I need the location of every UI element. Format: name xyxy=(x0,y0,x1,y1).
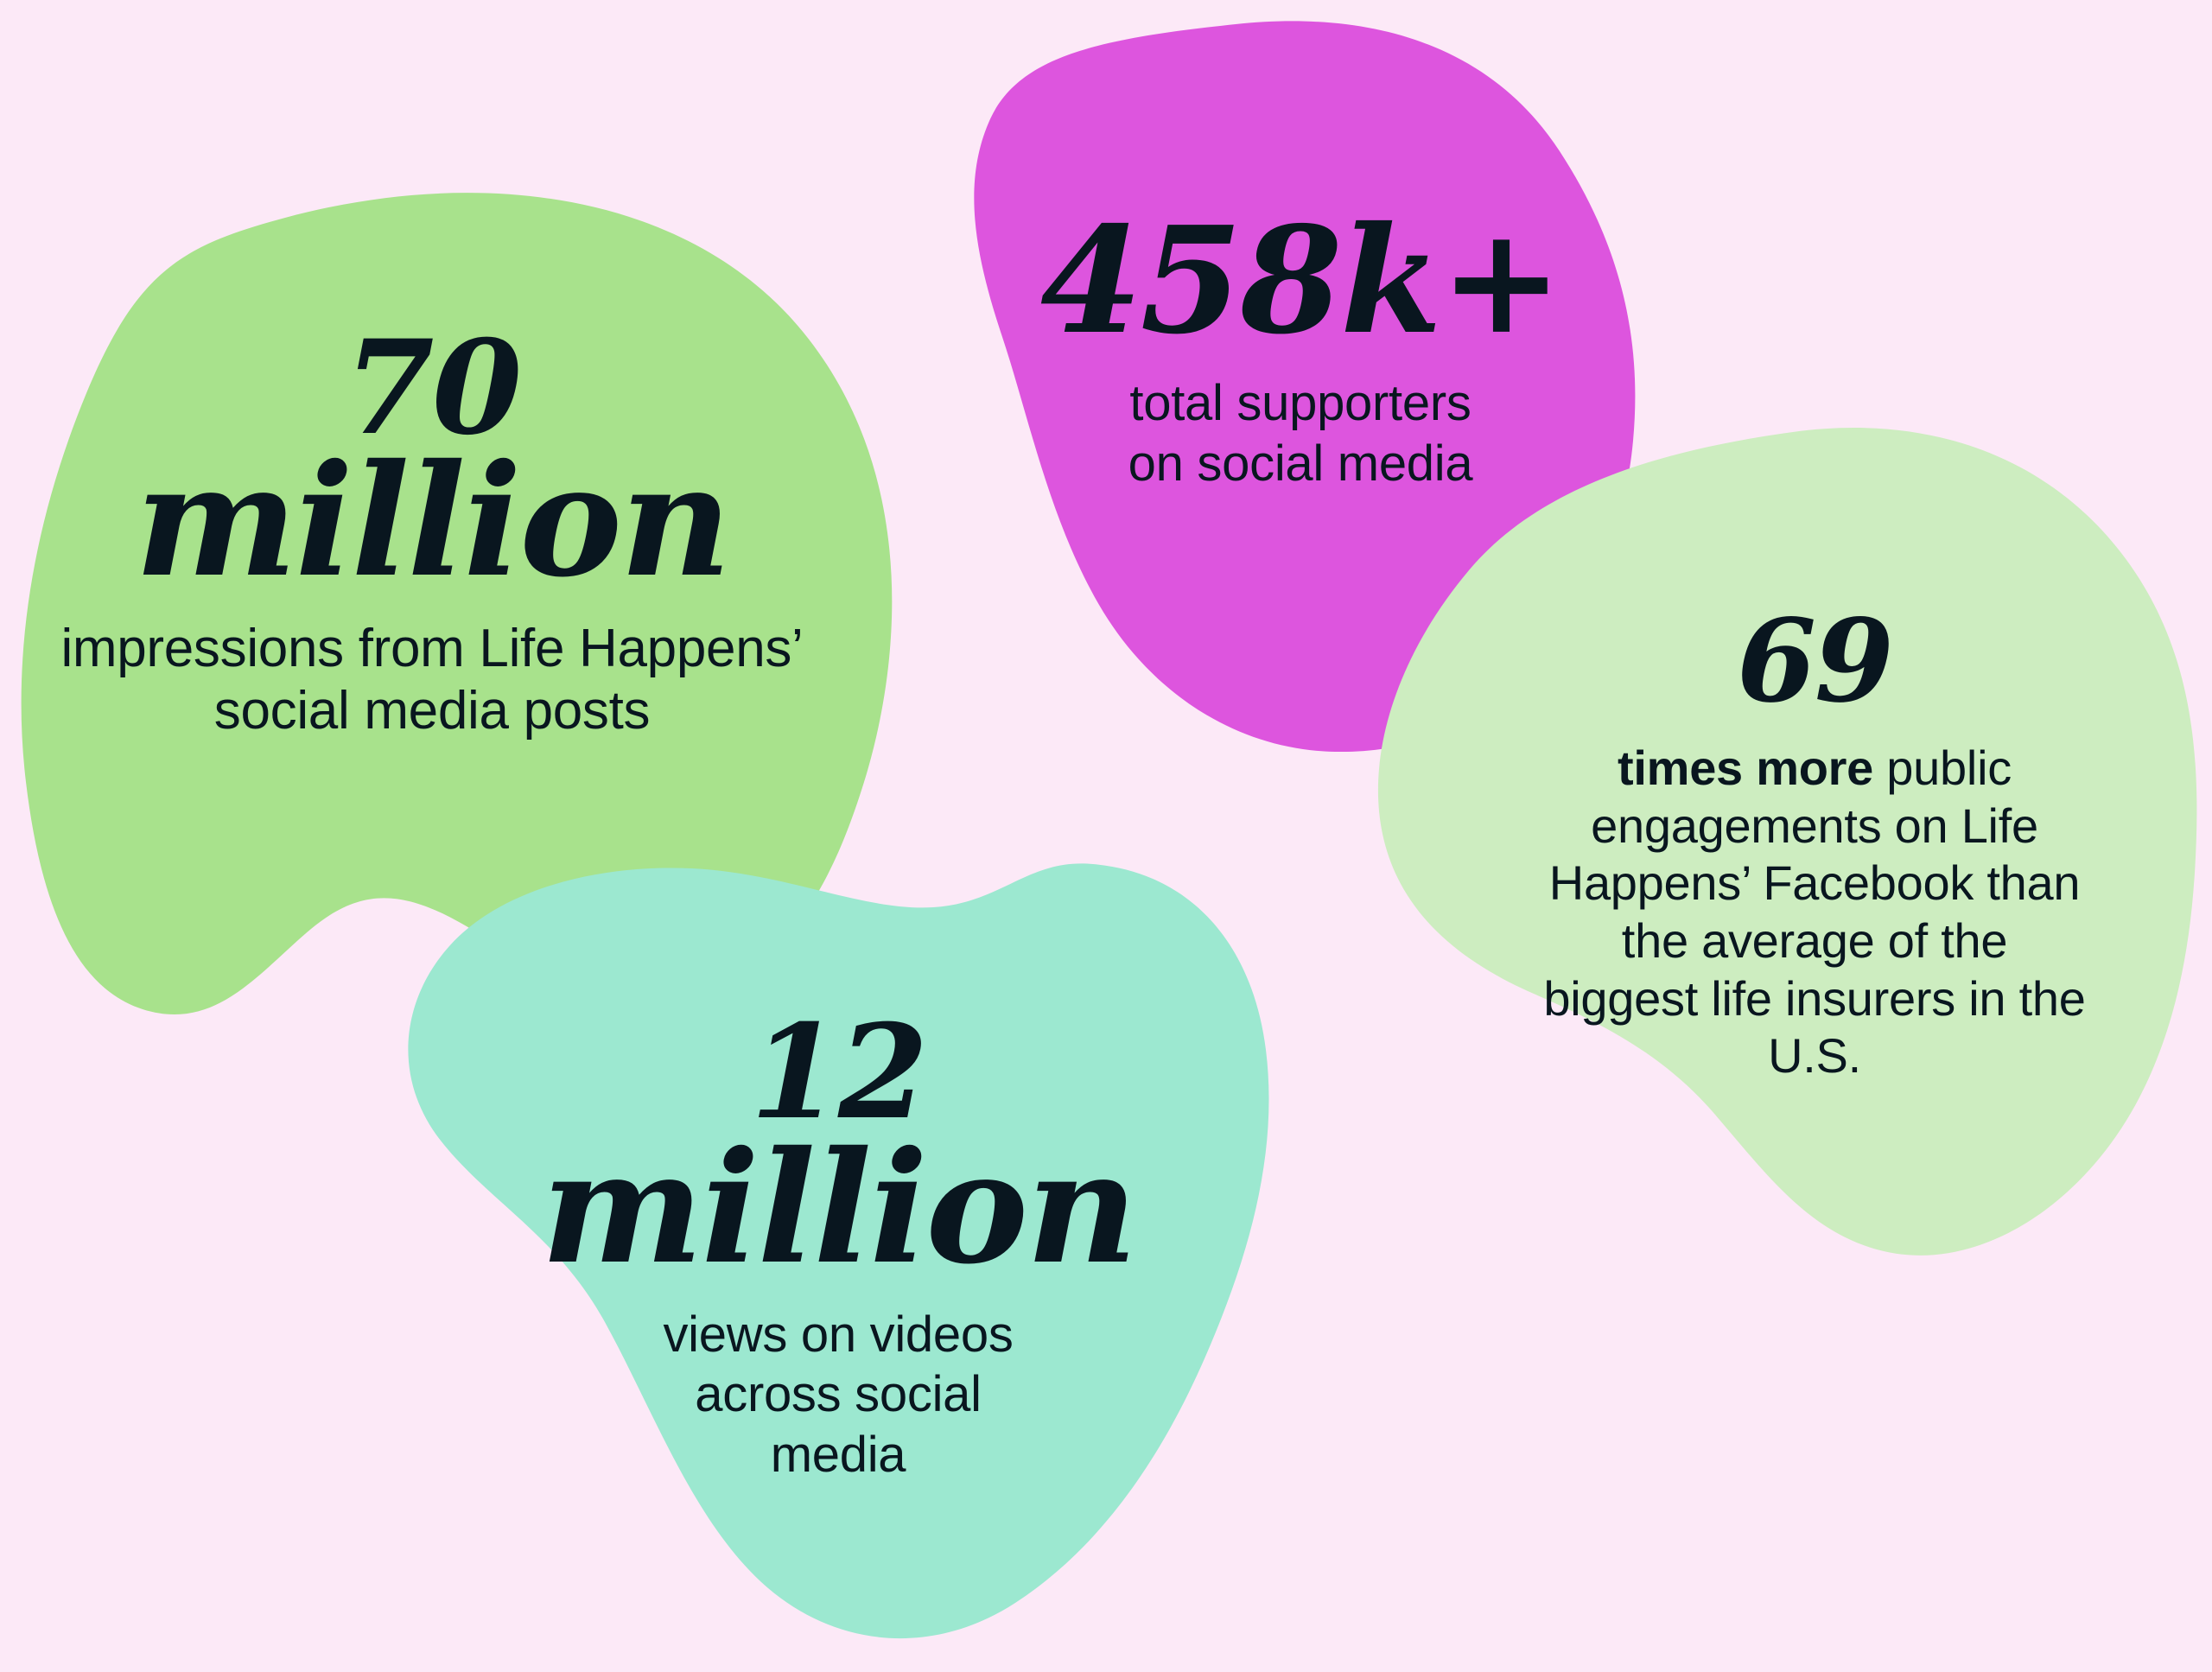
stat-block-views: 12 million views on videos across social… xyxy=(493,1011,1184,1484)
stat-caption-line-2: on social media xyxy=(1128,435,1473,492)
stat-block-supporters: 458k+ total supporters on social media xyxy=(989,207,1611,493)
stat-number-line-1: 12 xyxy=(493,1011,1184,1135)
stat-number-views: 12 million xyxy=(493,1011,1184,1281)
stat-number-supporters: 458k+ xyxy=(989,207,1611,354)
stat-number-engagements: 69 xyxy=(1538,605,2091,719)
stat-number-impressions: 70 million xyxy=(52,328,812,592)
stat-caption-line-3: media xyxy=(771,1427,906,1483)
stat-caption-supporters: total supporters on social media xyxy=(989,373,1611,493)
stat-caption-views: views on videos across social media xyxy=(493,1305,1184,1485)
stat-caption-engagements: times more public engagements on Life Ha… xyxy=(1538,740,2091,1085)
stat-number-line-2: million xyxy=(135,430,729,611)
stat-caption-line-1: views on videos xyxy=(663,1306,1013,1363)
stat-caption-line-2: across social xyxy=(695,1366,981,1422)
stat-number-line-2: million xyxy=(541,1117,1135,1298)
stat-caption-emphasis: times more xyxy=(1618,741,1873,795)
stat-caption-impressions: impressions from Life Happens’ social me… xyxy=(52,618,812,742)
social-media-stats-infographic: 70 million impressions from Life Happens… xyxy=(0,0,2212,1672)
stat-caption-line-1: total supporters xyxy=(1129,375,1471,431)
stat-block-engagements: 69 times more public engagements on Life… xyxy=(1538,605,2091,1085)
stat-block-impressions: 70 million impressions from Life Happens… xyxy=(52,328,812,742)
